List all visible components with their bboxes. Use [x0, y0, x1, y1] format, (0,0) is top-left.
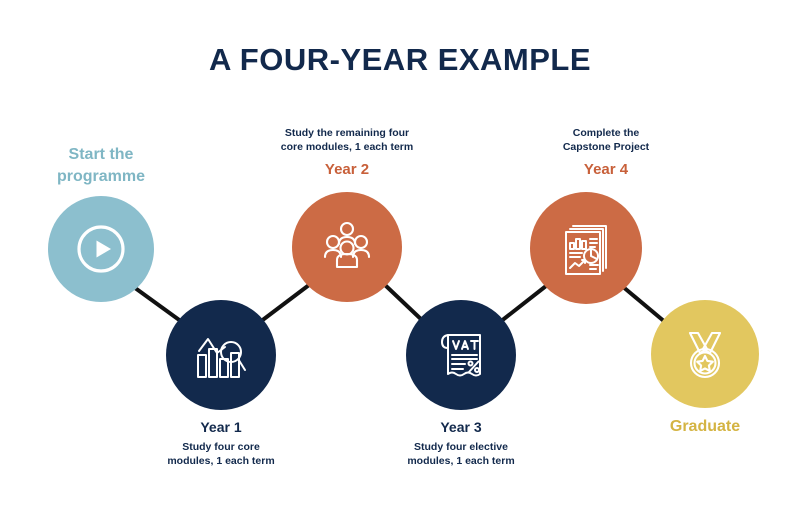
vat-receipt-icon	[432, 326, 490, 384]
connector-year4-to-graduate	[622, 286, 665, 322]
caption-year-4-line1: Complete the	[526, 126, 686, 140]
caption-year-2: Study the remaining four core modules, 1…	[257, 126, 437, 181]
caption-year-3: Year 3 Study four elective modules, 1 ea…	[390, 418, 532, 468]
node-start[interactable]	[48, 196, 154, 302]
caption-start: Start the programme	[30, 144, 172, 187]
caption-year-2-heading: Year 2	[257, 160, 437, 180]
bar-chart-magnifier-icon	[191, 325, 251, 385]
caption-graduate: Graduate	[634, 416, 776, 438]
connector-year2-to-year3	[385, 285, 424, 322]
caption-year-1-line1: Study four core	[150, 440, 292, 454]
caption-graduate-heading: Graduate	[634, 416, 776, 438]
caption-year-3-line1: Study four elective	[390, 440, 532, 454]
report-documents-icon	[556, 218, 616, 278]
connector-start-to-year1	[131, 285, 182, 322]
connector-year1-to-year2	[260, 285, 309, 322]
caption-year-4-heading: Year 4	[526, 160, 686, 180]
play-button-icon	[73, 221, 129, 277]
caption-year-1-line2: modules, 1 each term	[150, 454, 292, 468]
caption-start-line1: Start the	[30, 144, 172, 166]
node-graduate[interactable]	[651, 300, 759, 408]
people-group-icon	[318, 218, 376, 276]
caption-year-4: Complete the Capstone Project Year 4	[526, 126, 686, 181]
caption-year-3-heading: Year 3	[390, 418, 532, 437]
medal-icon	[676, 325, 734, 383]
infographic-canvas: A FOUR-YEAR EXAMPLE Start the programme	[0, 0, 800, 513]
node-year-2[interactable]	[292, 192, 402, 302]
caption-year-1-heading: Year 1	[150, 418, 292, 437]
caption-year-2-line1: Study the remaining four	[257, 126, 437, 140]
node-year-3[interactable]	[406, 300, 516, 410]
connector-year3-to-year4	[500, 286, 546, 322]
caption-year-2-line2: core modules, 1 each term	[257, 140, 437, 154]
caption-start-line2: programme	[30, 166, 172, 188]
node-year-4[interactable]	[530, 192, 642, 304]
caption-year-1: Year 1 Study four core modules, 1 each t…	[150, 418, 292, 468]
node-year-1[interactable]	[166, 300, 276, 410]
caption-year-3-line2: modules, 1 each term	[390, 454, 532, 468]
caption-year-4-line2: Capstone Project	[526, 140, 686, 154]
